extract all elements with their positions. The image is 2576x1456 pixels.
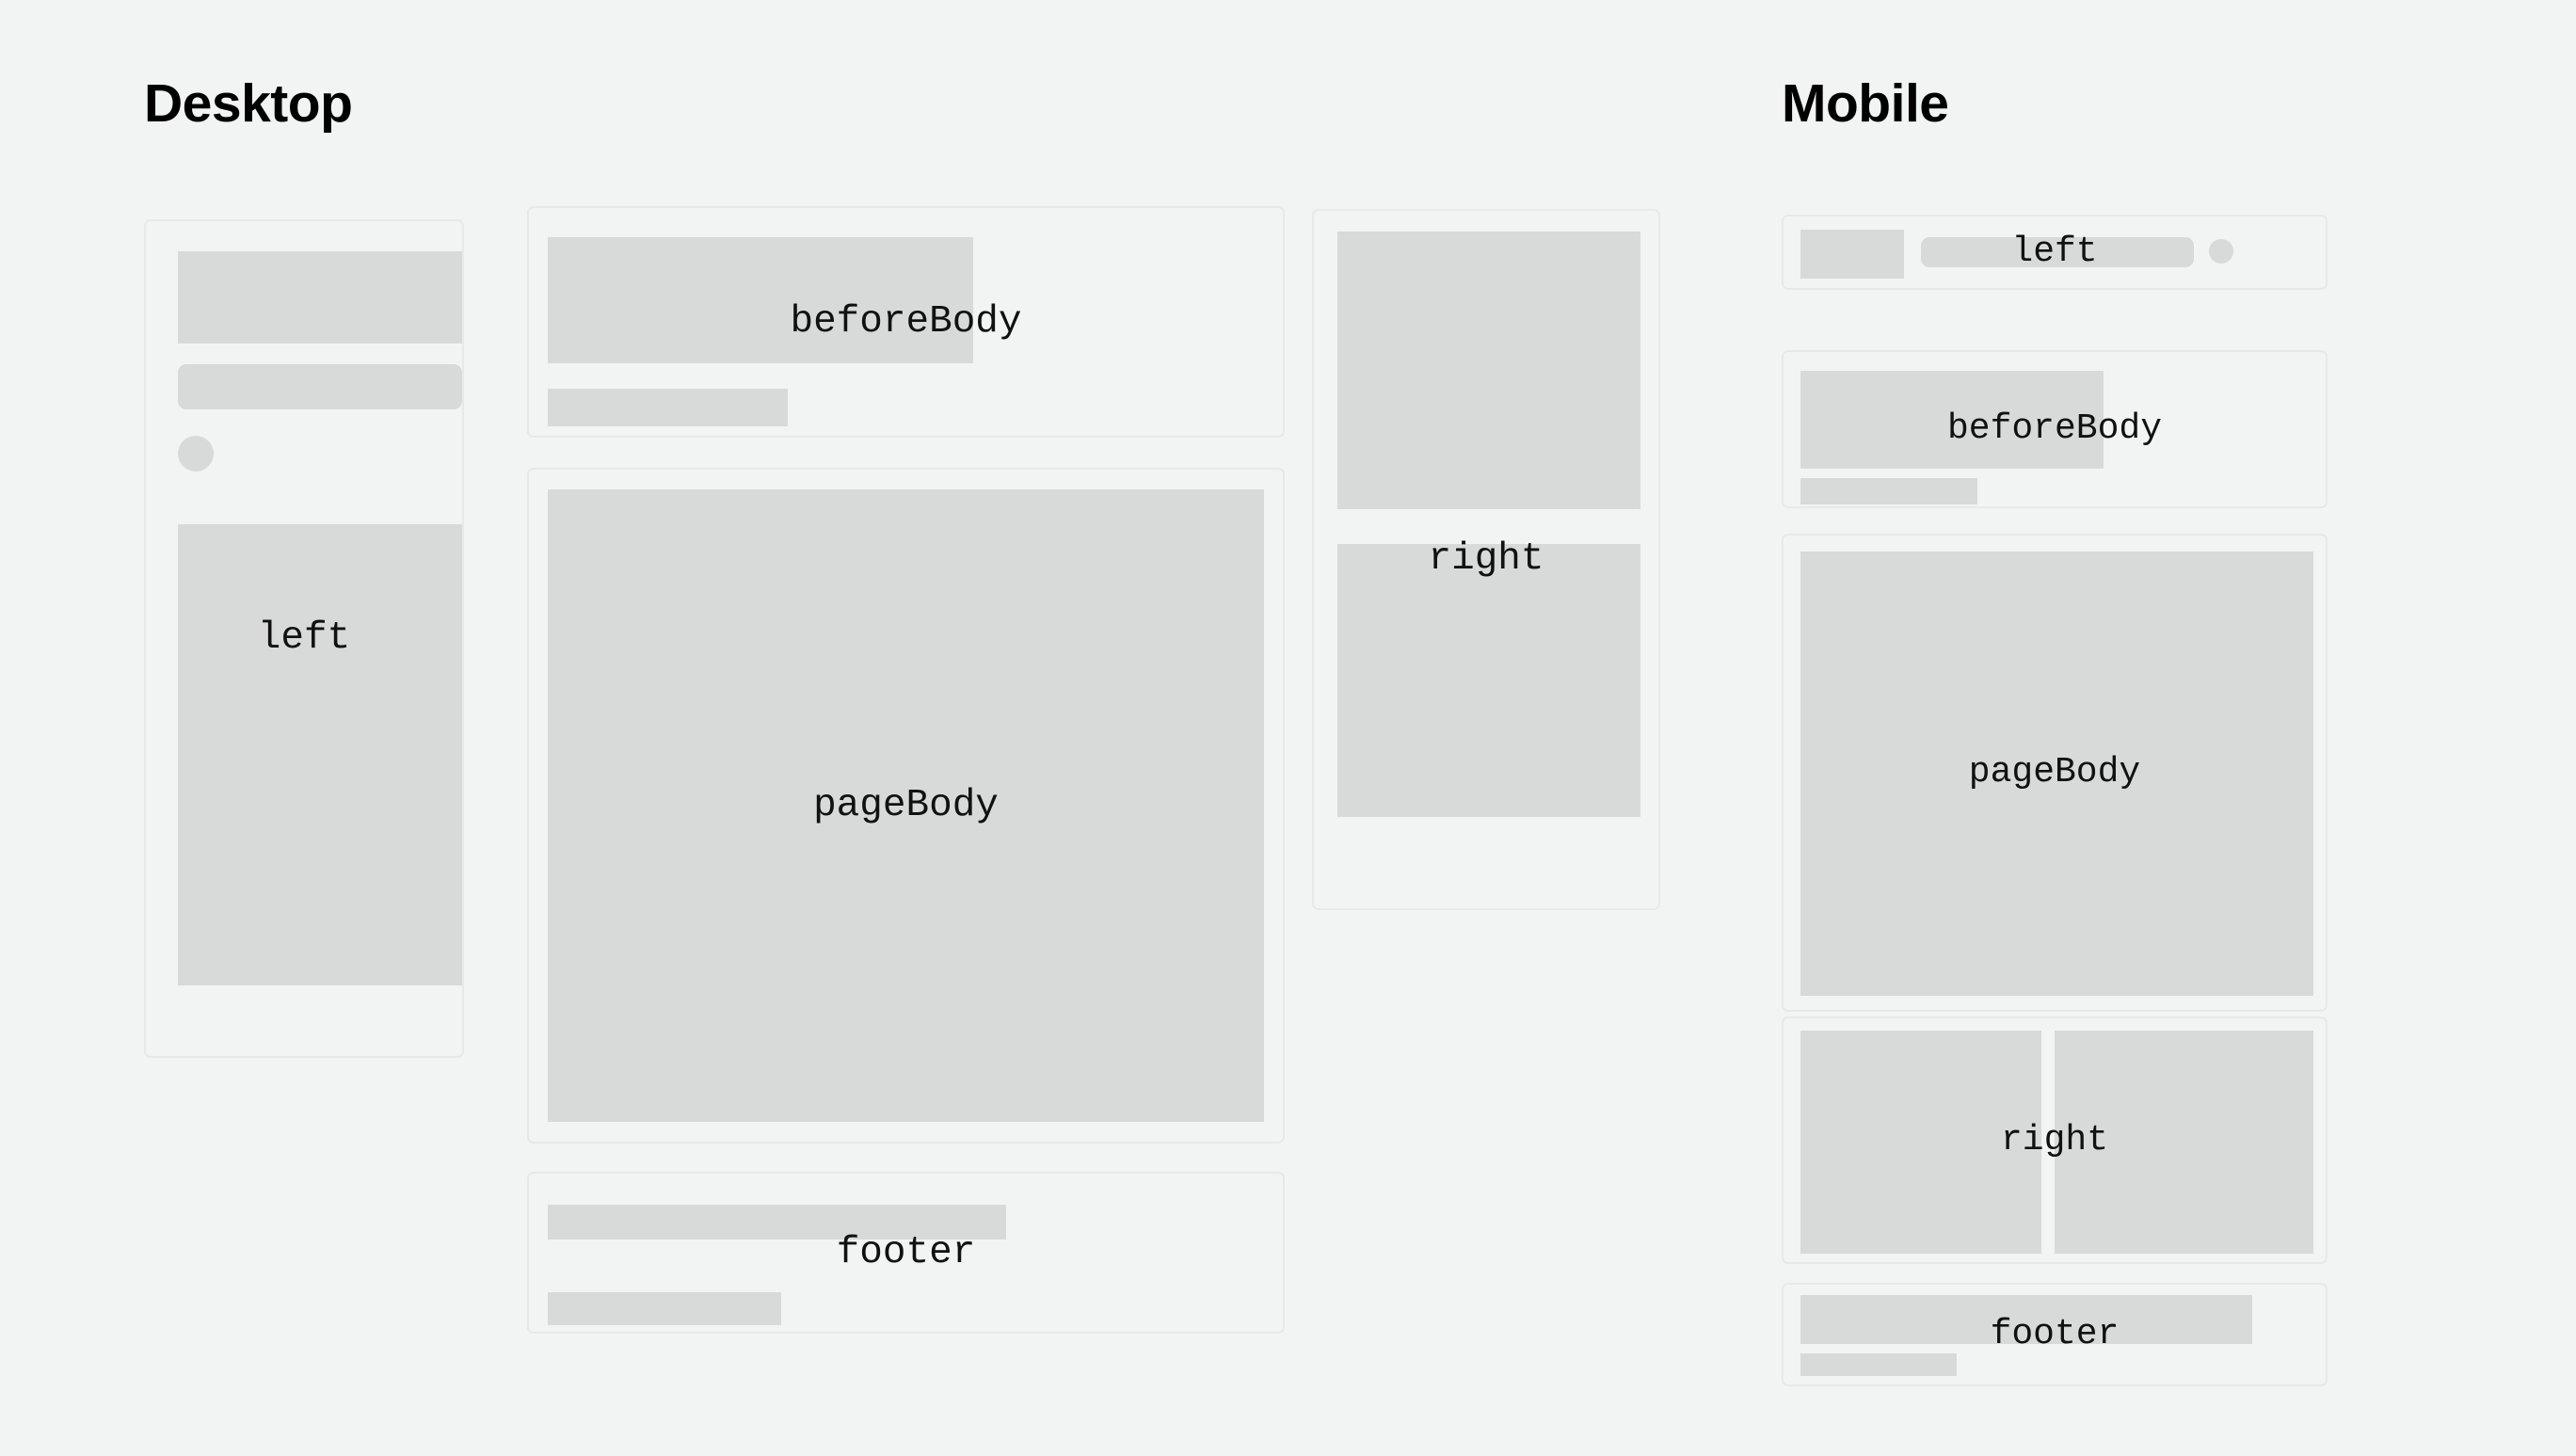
placeholder-block [1337,232,1640,509]
placeholder-block [1800,371,2104,469]
mobile-region-before-body[interactable]: beforeBody [1782,350,2328,508]
placeholder-bar [548,1205,1006,1240]
page-title-mobile: Mobile [1782,77,1949,131]
placeholder-block [178,251,462,344]
placeholder-bar [1800,1295,2252,1344]
desktop-region-right[interactable]: right [1312,209,1660,910]
desktop-region-footer[interactable]: footer [527,1172,1285,1334]
placeholder-block [1337,544,1640,817]
placeholder-bar [1800,478,1977,504]
desktop-region-before-body[interactable]: beforeBody [527,206,1285,438]
placeholder-block [548,489,1264,1122]
placeholder-avatar-circle [2209,239,2233,264]
placeholder-block [178,524,462,985]
placeholder-bar [1921,237,2194,267]
placeholder-block [1800,230,1904,279]
mobile-region-page-body[interactable]: pageBody [1782,534,2328,1012]
mobile-region-right[interactable]: right [1782,1016,2328,1264]
placeholder-block [2055,1031,2313,1254]
placeholder-bar [178,364,462,409]
page-title-desktop: Desktop [144,77,352,131]
mobile-region-footer[interactable]: footer [1782,1283,2328,1386]
placeholder-block [548,237,973,363]
wireframe-canvas: Desktop left beforeBody pageBody right [0,0,2576,1456]
placeholder-avatar-circle [178,436,214,472]
placeholder-bar [548,389,788,426]
placeholder-bar [1800,1353,1957,1376]
desktop-region-left[interactable]: left [144,219,464,1058]
placeholder-block [1800,552,2313,996]
placeholder-bar [548,1292,781,1325]
placeholder-block [1800,1031,2041,1254]
desktop-region-page-body[interactable]: pageBody [527,468,1285,1144]
mobile-region-left[interactable]: left [1782,215,2328,290]
